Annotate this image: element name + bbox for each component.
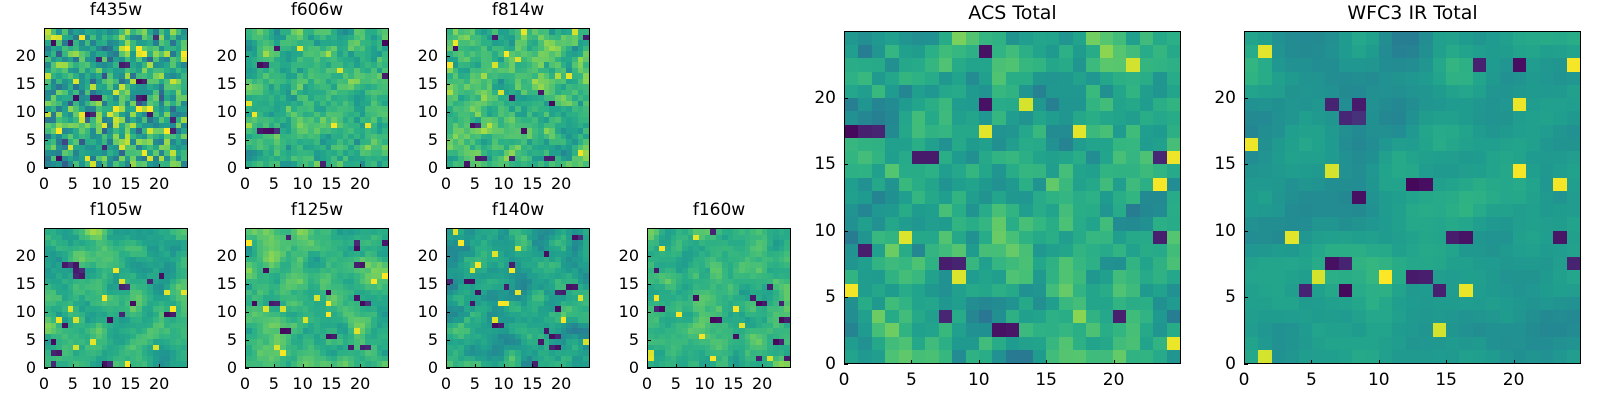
y-tick-label-f606w-15: 15: [201, 76, 237, 92]
x-tick-mark-f814w-0: [446, 164, 447, 168]
heatmap-grid-f125w: [246, 229, 388, 367]
heatmap-cell: [979, 151, 992, 164]
heatmap-cell: [1073, 45, 1086, 58]
heatmap-cell: [966, 32, 979, 45]
heatmap-cell: [1126, 111, 1139, 124]
heatmap-cell: [1086, 45, 1099, 58]
heatmap-cell: [1113, 217, 1126, 230]
heatmap-cell: [1153, 178, 1166, 191]
heatmap-cell: [1073, 138, 1086, 151]
heatmap-cell: [899, 217, 912, 230]
x-tick-mark-f105w-5: [73, 364, 74, 368]
heatmap-cell: [1046, 178, 1059, 191]
heatmap-cell: [1006, 257, 1019, 270]
heatmap-cell: [966, 204, 979, 217]
heatmap-cell: [912, 191, 925, 204]
heatmap-f814w[interactable]: [446, 28, 590, 168]
heatmap-cell: [1046, 98, 1059, 111]
heatmap-cell: [858, 72, 871, 85]
y-tick-label-f814w-0: 0: [402, 160, 438, 176]
heatmap-cell: [1086, 138, 1099, 151]
heatmap-cell: [979, 231, 992, 244]
heatmap-cell: [1006, 164, 1019, 177]
heatmap-cell: [1153, 32, 1166, 45]
heatmap-cell: [1140, 72, 1153, 85]
heatmap-cell: [1086, 85, 1099, 98]
heatmap-cell: [966, 138, 979, 151]
panel-f125w: f125w0510152005101520: [201, 200, 389, 400]
x-tick-mark-f606w-0: [245, 164, 246, 168]
y-tick-mark-f140w-15: [446, 284, 450, 285]
heatmap-cell: [1019, 138, 1032, 151]
heatmap-cell: [1113, 32, 1126, 45]
heatmap-cell: [952, 111, 965, 124]
heatmap-cell: [1113, 111, 1126, 124]
heatmap-cell: [952, 244, 965, 257]
heatmap-cell: [939, 138, 952, 151]
heatmap-cell: [1059, 125, 1072, 138]
heatmap-cell: [1033, 138, 1046, 151]
panel-f160w: f160w0510152005101520: [603, 200, 791, 400]
heatmap-cell: [899, 204, 912, 217]
heatmap-cell: [1153, 244, 1166, 257]
y-tick-label-f105w-5: 5: [0, 332, 36, 348]
heatmap-cell: [885, 72, 898, 85]
heatmap-cell: [1153, 164, 1166, 177]
heatmap-cell: [1113, 85, 1126, 98]
heatmap-cell: [1033, 58, 1046, 71]
heatmap-f125w[interactable]: [245, 228, 389, 368]
heatmap-cell: [1113, 58, 1126, 71]
heatmap-cell: [1033, 231, 1046, 244]
heatmap-cell: [912, 178, 925, 191]
panel-title-f435w: f435w: [44, 0, 188, 20]
heatmap-cell: [925, 257, 938, 270]
x-tick-mark-f606w-5: [274, 164, 275, 168]
heatmap-cell: [1140, 151, 1153, 164]
heatmap-cell: [912, 231, 925, 244]
heatmap-cell: [992, 85, 1005, 98]
heatmap-cell: [992, 72, 1005, 85]
heatmap-cell: [1006, 125, 1019, 138]
heatmap-cell: [845, 85, 858, 98]
heatmap-cell: [1113, 178, 1126, 191]
heatmap-cell: [872, 244, 885, 257]
heatmap-cell: [966, 244, 979, 257]
heatmap-cell: [992, 98, 1005, 111]
heatmap-cell: [966, 111, 979, 124]
heatmap-cell: [966, 45, 979, 58]
heatmap-cell: [1167, 231, 1180, 244]
heatmap-cell: [1059, 257, 1072, 270]
y-tick-mark-f435w-0: [44, 168, 48, 169]
heatmap-cell: [939, 257, 952, 270]
heatmap-cell: [925, 72, 938, 85]
heatmap-cell: [952, 164, 965, 177]
heatmap-cell: [858, 138, 871, 151]
heatmap-cell: [952, 32, 965, 45]
heatmap-cell: [925, 138, 938, 151]
x-tick-mark-f125w-0: [245, 364, 246, 368]
x-tick-label-f125w-20: 20: [340, 376, 380, 392]
x-tick-mark-f125w-15: [331, 364, 332, 368]
heatmap-cell: [939, 164, 952, 177]
heatmap-cell: [1153, 98, 1166, 111]
heatmap-cell: [1019, 257, 1032, 270]
heatmap-cell: [899, 257, 912, 270]
heatmap-cell: [1100, 151, 1113, 164]
heatmap-cell: [858, 111, 871, 124]
heatmap-cell: [1046, 244, 1059, 257]
heatmap-cell: [845, 151, 858, 164]
heatmap-cell: [992, 45, 1005, 58]
heatmap-cell: [1126, 244, 1139, 257]
heatmap-cell: [1019, 151, 1032, 164]
heatmap-cell: [845, 178, 858, 191]
x-tick-mark-f105w-15: [130, 364, 131, 368]
x-tick-mark-f814w-10: [504, 164, 505, 168]
heatmap-cell: [966, 85, 979, 98]
heatmap-cell: [1100, 191, 1113, 204]
heatmap-cell: [1006, 191, 1019, 204]
heatmap-cell: [845, 98, 858, 111]
heatmap-cell: [1126, 98, 1139, 111]
y-tick-label-f160w-20: 20: [603, 248, 639, 264]
heatmap-cell: [912, 45, 925, 58]
y-tick-label-f125w-15: 15: [201, 276, 237, 292]
heatmap-cell: [845, 164, 858, 177]
heatmap-cell: [912, 138, 925, 151]
heatmap-cell: [979, 244, 992, 257]
x-tick-mark-f140w-10: [504, 364, 505, 368]
heatmap-cell: [939, 244, 952, 257]
heatmap-cell: [885, 45, 898, 58]
heatmap-cell: [1126, 45, 1139, 58]
heatmap-cell: [1100, 217, 1113, 230]
x-tick-label-f160w-20: 20: [742, 376, 782, 392]
heatmap-cell: [1140, 164, 1153, 177]
x-tick-mark-f160w-10: [705, 364, 706, 368]
y-tick-label-f140w-20: 20: [402, 248, 438, 264]
y-tick-label-f435w-5: 5: [0, 132, 36, 148]
x-tick-mark-f435w-0: [44, 164, 45, 168]
heatmap-cell: [1140, 231, 1153, 244]
heatmap-cell: [1059, 58, 1072, 71]
heatmap-cell: [885, 111, 898, 124]
heatmap-cell: [1033, 125, 1046, 138]
heatmap-cell: [885, 85, 898, 98]
heatmap-cell: [1033, 217, 1046, 230]
heatmap-cell: [1113, 231, 1126, 244]
x-tick-mark-f814w-15: [532, 164, 533, 168]
heatmap-cell: [1140, 85, 1153, 98]
heatmap-cell: [1167, 191, 1180, 204]
heatmap-cell: [858, 125, 871, 138]
heatmap-f160w[interactable]: [647, 228, 791, 368]
heatmap-cell: [1086, 257, 1099, 270]
heatmap-cell: [1006, 231, 1019, 244]
heatmap-cell: [872, 164, 885, 177]
heatmap-cell: [992, 58, 1005, 71]
y-tick-mark-f160w-10: [647, 312, 651, 313]
panel-title-f814w: f814w: [446, 0, 590, 20]
y-tick-label-f105w-20: 20: [0, 248, 36, 264]
heatmap-grid-f105w: [45, 229, 187, 367]
x-tick-mark-f160w-15: [733, 364, 734, 368]
heatmap-cell: [872, 32, 885, 45]
heatmap-acs-total[interactable]: [844, 31, 1181, 364]
heatmap-cell: [845, 32, 858, 45]
y-tick-label-f814w-20: 20: [402, 48, 438, 64]
heatmap-cell: [979, 138, 992, 151]
heatmap-cell: [1126, 231, 1139, 244]
heatmap-cell: [1019, 125, 1032, 138]
y-tick-mark-f435w-5: [44, 140, 48, 141]
heatmap-cell: [1086, 72, 1099, 85]
heatmap-cell: [1100, 72, 1113, 85]
heatmap-cell: [1086, 111, 1099, 124]
heatmap-cell: [992, 32, 1005, 45]
heatmap-cell: [899, 85, 912, 98]
heatmap-cell: [1126, 164, 1139, 177]
heatmap-cell: [966, 191, 979, 204]
heatmap-cell: [1059, 191, 1072, 204]
y-tick-label-f125w-10: 10: [201, 304, 237, 320]
heatmap-cell: [1046, 151, 1059, 164]
heatmap-cell: [912, 257, 925, 270]
x-tick-mark-f105w-10: [102, 364, 103, 368]
heatmap-f435w[interactable]: [44, 28, 188, 168]
heatmap-cell: [1113, 164, 1126, 177]
heatmap-cell: [939, 125, 952, 138]
heatmap-cell: [1140, 244, 1153, 257]
y-tick-mark-f435w-10: [44, 112, 48, 113]
heatmap-cell: [1019, 72, 1032, 85]
heatmap-cell: [1100, 125, 1113, 138]
heatmap-cell: [858, 257, 871, 270]
x-tick-mark-f160w-20: [762, 364, 763, 368]
heatmap-cell: [1059, 32, 1072, 45]
x-tick-mark-f435w-20: [159, 164, 160, 168]
heatmap-f140w[interactable]: [446, 228, 590, 368]
heatmap-cell: [912, 58, 925, 71]
heatmap-cell: [1167, 111, 1180, 124]
heatmap-cell: [1059, 164, 1072, 177]
heatmap-cell: [858, 85, 871, 98]
heatmap-cell: [885, 125, 898, 138]
heatmap-cell: [885, 191, 898, 204]
heatmap-cell: [1019, 204, 1032, 217]
heatmap-cell: [952, 98, 965, 111]
heatmap-cell: [1073, 191, 1086, 204]
heatmap-cell: [1019, 244, 1032, 257]
heatmap-cell: [1019, 85, 1032, 98]
heatmap-cell: [1006, 111, 1019, 124]
y-tick-mark-f125w-0: [245, 368, 249, 369]
heatmap-cell: [912, 151, 925, 164]
heatmap-cell: [899, 138, 912, 151]
heatmap-cell: [925, 32, 938, 45]
heatmap-cell: [858, 151, 871, 164]
heatmap-cell: [1086, 32, 1099, 45]
heatmap-cell: [1073, 111, 1086, 124]
heatmap-f606w[interactable]: [245, 28, 389, 168]
panel-title-f140w: f140w: [446, 200, 590, 220]
heatmap-cell: [1113, 244, 1126, 257]
heatmap-cell: [979, 58, 992, 71]
heatmap-cell: [1019, 98, 1032, 111]
heatmap-cell: [872, 217, 885, 230]
heatmap-cell: [925, 151, 938, 164]
heatmap-cell: [1046, 85, 1059, 98]
heatmap-grid-f140w: [447, 229, 589, 367]
heatmap-cell: [939, 45, 952, 58]
panel-acs-total: ACS Total0510152005101520: [800, 3, 1181, 396]
panel-title-acs-total: ACS Total: [844, 3, 1181, 23]
heatmap-cell: [1073, 204, 1086, 217]
y-tick-label-f606w-20: 20: [201, 48, 237, 64]
y-tick-mark-f140w-20: [446, 256, 450, 257]
heatmap-cell: [925, 98, 938, 111]
heatmap-cell: [1113, 98, 1126, 111]
heatmap-cell: [1100, 244, 1113, 257]
heatmap-cell: [1046, 164, 1059, 177]
x-tick-mark-f814w-5: [475, 164, 476, 168]
heatmap-cell: [1006, 138, 1019, 151]
heatmap-cell: [1019, 164, 1032, 177]
heatmap-cell: [1086, 164, 1099, 177]
heatmap-cell: [912, 204, 925, 217]
heatmap-cell: [952, 125, 965, 138]
heatmap-cell: [1113, 72, 1126, 85]
heatmap-cell: [1126, 217, 1139, 230]
heatmap-cell: [858, 178, 871, 191]
x-tick-label-f814w-20: 20: [541, 176, 581, 192]
heatmap-cell: [1046, 138, 1059, 151]
heatmap-cell: [1006, 45, 1019, 58]
heatmap-cell: [899, 178, 912, 191]
y-tick-label-f435w-0: 0: [0, 160, 36, 176]
panel-title-f606w: f606w: [245, 0, 389, 20]
heatmap-cell: [979, 45, 992, 58]
heatmap-cell: [885, 58, 898, 71]
heatmap-cell: [1019, 191, 1032, 204]
heatmap-cell: [872, 45, 885, 58]
heatmap-cell: [1126, 151, 1139, 164]
heatmap-cell: [872, 151, 885, 164]
heatmap-cell: [899, 244, 912, 257]
heatmap-cell: [939, 72, 952, 85]
y-tick-label-f435w-15: 15: [0, 76, 36, 92]
heatmap-cell: [1140, 45, 1153, 58]
heatmap-cell: [1140, 58, 1153, 71]
heatmap-cell: [952, 45, 965, 58]
heatmap-cell: [1073, 72, 1086, 85]
heatmap-cell: [845, 270, 858, 283]
y-tick-mark-f160w-20: [647, 256, 651, 257]
heatmap-cell: [1167, 151, 1180, 164]
x-tick-mark-f140w-0: [446, 364, 447, 368]
y-tick-mark-f160w-5: [647, 340, 651, 341]
y-tick-mark-f105w-15: [44, 284, 48, 285]
heatmap-cell: [992, 191, 1005, 204]
heatmap-cell: [979, 191, 992, 204]
heatmap-cell: [1046, 217, 1059, 230]
heatmap-cell: [1086, 125, 1099, 138]
heatmap-cell: [858, 217, 871, 230]
heatmap-cell: [885, 151, 898, 164]
heatmap-cell: [872, 125, 885, 138]
heatmap-cell: [1113, 138, 1126, 151]
heatmap-cell: [858, 164, 871, 177]
heatmap-cell: [1006, 85, 1019, 98]
heatmap-cell: [1126, 32, 1139, 45]
y-tick-mark-f814w-0: [446, 168, 450, 169]
heatmap-cell: [1086, 58, 1099, 71]
y-tick-mark-f140w-5: [446, 340, 450, 341]
heatmap-cell: [1059, 111, 1072, 124]
heatmap-cell: [1073, 178, 1086, 191]
heatmap-cell: [925, 111, 938, 124]
heatmap-cell: [966, 231, 979, 244]
heatmap-cell: [858, 231, 871, 244]
heatmap-cell: [1019, 32, 1032, 45]
heatmap-cell: [872, 138, 885, 151]
y-tick-label-f160w-10: 10: [603, 304, 639, 320]
heatmap-cell: [925, 58, 938, 71]
heatmap-cell: [1006, 72, 1019, 85]
heatmap-cell: [1167, 257, 1180, 270]
panel-placeholder-empty: [647, 28, 791, 168]
y-tick-mark-f160w-0: [647, 368, 651, 369]
heatmap-cell: [1033, 191, 1046, 204]
heatmap-cell: [858, 32, 871, 45]
heatmap-f105w[interactable]: [44, 228, 188, 368]
panel-f435w: f435w0510152005101520: [0, 0, 188, 200]
heatmap-cell: [1033, 85, 1046, 98]
heatmap-cell: [845, 72, 858, 85]
y-tick-label-f435w-20: 20: [0, 48, 36, 64]
heatmap-cell: [1006, 151, 1019, 164]
panel-title-f105w: f105w: [44, 200, 188, 220]
x-tick-mark-f125w-10: [303, 364, 304, 368]
heatmap-cell: [1126, 191, 1139, 204]
heatmap-cell: [1126, 85, 1139, 98]
heatmap-cell: [1167, 164, 1180, 177]
heatmap-cell: [912, 111, 925, 124]
heatmap-cell: [1100, 178, 1113, 191]
heatmap-cell: [885, 178, 898, 191]
heatmap-cell: [992, 151, 1005, 164]
x-tick-mark-f125w-20: [360, 364, 361, 368]
heatmap-cell: [939, 32, 952, 45]
heatmap-cell: [1126, 257, 1139, 270]
heatmap-cell: [1059, 98, 1072, 111]
x-tick-mark-f606w-15: [331, 164, 332, 168]
heatmap-cell: [1059, 204, 1072, 217]
heatmap-cell: [1033, 178, 1046, 191]
heatmap-cell: [992, 244, 1005, 257]
heatmap-cell: [925, 231, 938, 244]
heatmap-cell: [872, 111, 885, 124]
heatmap-cell: [1073, 151, 1086, 164]
heatmap-cell: [992, 178, 1005, 191]
heatmap-cell: [899, 45, 912, 58]
heatmap-cell: [1046, 257, 1059, 270]
y-tick-mark-f814w-5: [446, 140, 450, 141]
panel-f606w: f606w0510152005101520: [201, 0, 389, 200]
heatmap-cell: [1140, 138, 1153, 151]
